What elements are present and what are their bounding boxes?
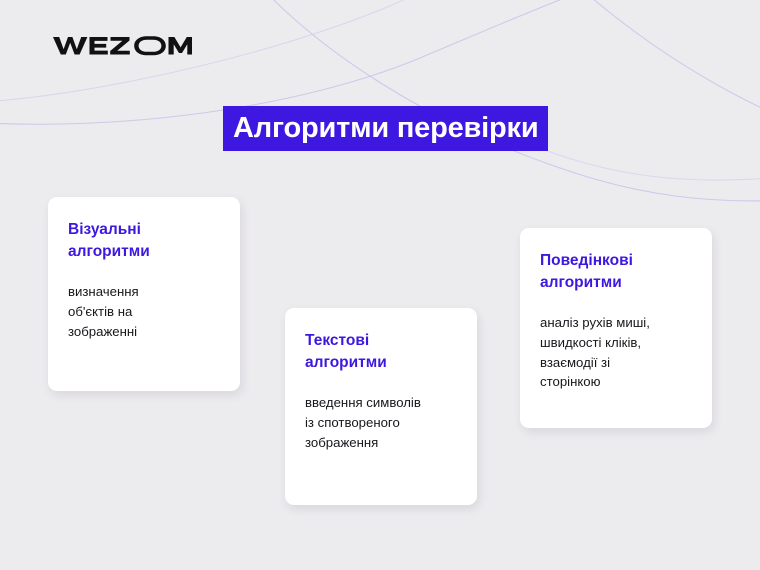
decor-curve-e [545, 150, 760, 180]
card-body: аналіз рухів миші, швидкості кліків, вза… [540, 313, 692, 392]
slide-title-banner: Алгоритми перевірки [223, 106, 548, 151]
card-visual-algorithms[interactable]: Візуальні алгоритми визначення об'єктів … [48, 197, 240, 391]
card-text-algorithms[interactable]: Текстові алгоритми введення символів із … [285, 308, 477, 505]
card-body: введення символів із спотвореного зображ… [305, 393, 457, 452]
page-title: Алгоритми перевірки [233, 114, 539, 143]
card-heading: Текстові алгоритми [305, 330, 457, 375]
card-body: визначення об'єктів на зображенні [68, 282, 220, 341]
card-heading: Візуальні алгоритми [68, 219, 220, 264]
wezom-wordmark-icon [52, 31, 192, 59]
decor-curve-d [560, 0, 760, 112]
slide-canvas: Алгоритми перевірки Візуальні алгоритми … [0, 0, 760, 570]
wezom-logo[interactable] [52, 31, 192, 59]
decor-curve-b [238, 0, 760, 201]
card-behavioral-algorithms[interactable]: Поведінкові алгоритми аналіз рухів миші,… [520, 228, 712, 428]
card-heading: Поведінкові алгоритми [540, 250, 692, 295]
